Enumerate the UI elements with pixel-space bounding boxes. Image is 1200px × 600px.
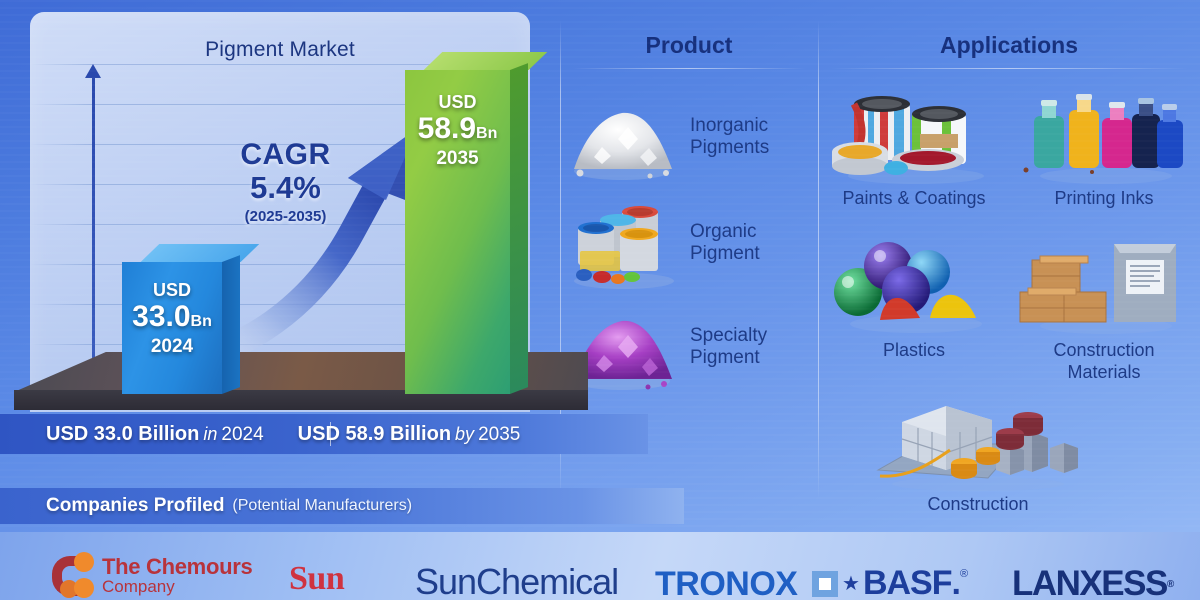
product-label-inorganic: Inorganic Pigments: [690, 115, 769, 160]
basf-star-icon: ★: [842, 571, 860, 596]
application-paints-coatings[interactable]: Paints & Coatings: [824, 78, 1004, 210]
basf-wordmark: BASF: [863, 564, 952, 600]
companies-title: Companies Profiled: [46, 495, 224, 517]
applications-title: Applications: [818, 32, 1200, 59]
application-label-cm-line1: Construction: [1014, 340, 1194, 362]
y-axis: [92, 74, 95, 392]
product-label-organic-line2: Pigment: [690, 243, 760, 265]
bar-2024: USD 33.0Bn 2024: [122, 262, 222, 394]
infographic-canvas: Pigment Market CAGR: [0, 0, 1200, 600]
bar-2024-label: USD 33.0Bn 2024: [122, 280, 222, 358]
application-plastics[interactable]: Plastics: [824, 230, 1004, 362]
basf-logo[interactable]: ★ BASF . ®: [812, 564, 968, 600]
bar-2024-top-face: [141, 244, 260, 262]
stat-2035-year: 2035: [478, 424, 520, 446]
bar-2024-value: 33.0Bn: [122, 301, 222, 333]
paint-buckets-icon: [824, 78, 1004, 186]
chart-panel: Pigment Market CAGR: [0, 0, 560, 468]
application-construction-materials[interactable]: Construction Materials: [1014, 230, 1194, 383]
paint-cans-icon: [560, 193, 690, 293]
cagr-value: 5.4%: [213, 170, 358, 206]
lanxess-tm-icon: ®: [1167, 579, 1173, 590]
product-label-specialty-line2: Pigment: [690, 347, 767, 369]
bar-2035-top-face: [424, 52, 548, 70]
chemours-mark-icon: [48, 552, 94, 598]
plastic-pellets-icon: [824, 230, 1004, 338]
companies-subtitle: (Potential Manufacturers): [232, 497, 412, 515]
application-label-inks: Printing Inks: [1014, 188, 1194, 210]
applications-panel: Applications: [818, 0, 1200, 532]
application-label-construction-materials: Construction Materials: [1014, 340, 1194, 383]
construction-blocks-icon: [868, 392, 1088, 492]
cagr-period: (2025-2035): [213, 208, 358, 225]
product-label-specialty: Specialty Pigment: [690, 325, 767, 370]
stat-2035-connector: by: [455, 424, 474, 445]
lanxess-logo[interactable]: LANXESS®: [1012, 564, 1173, 600]
product-label-organic: Organic Pigment: [690, 221, 760, 266]
basf-registered-icon: ®: [960, 568, 968, 580]
stat-band-divider: [330, 422, 331, 446]
stat-2024-year: 2024: [221, 424, 263, 446]
cagr-callout: CAGR 5.4% (2025-2035): [213, 140, 358, 225]
bar-2035: USD 58.9Bn 2035: [405, 70, 510, 394]
application-label-cm-line2: Materials: [1014, 362, 1194, 384]
stat-2024: USD 33.0 Billion in 2024: [46, 423, 264, 446]
stat-2035-value: USD 58.9 Billion: [298, 423, 451, 446]
product-label-specialty-line1: Specialty: [690, 325, 767, 347]
companies-band: Companies Profiled (Potential Manufactur…: [0, 488, 684, 524]
bar-2035-label: USD 58.9Bn 2035: [405, 92, 510, 170]
basf-period: .: [952, 564, 960, 600]
stat-2024-connector: in: [203, 424, 217, 445]
product-item-inorganic[interactable]: Inorganic Pigments: [560, 82, 818, 192]
bar-2035-value: 58.9Bn: [405, 113, 510, 145]
application-construction[interactable]: Construction: [858, 392, 1098, 516]
chemours-logo[interactable]: The Chemours Company: [48, 552, 252, 598]
bar-2035-side-face: [510, 63, 528, 394]
application-label-plastics: Plastics: [824, 340, 1004, 362]
bar-2035-currency: USD: [405, 92, 510, 113]
bar-2024-side-face: [222, 255, 240, 394]
application-printing-inks[interactable]: Printing Inks: [1014, 78, 1194, 210]
logo-strip: The Chemours Company Sun SunChemical TRO…: [0, 532, 1200, 600]
application-label-construction: Construction: [858, 494, 1098, 516]
sun-logo[interactable]: Sun: [289, 560, 344, 598]
bar-2035-unit: Bn: [476, 125, 497, 142]
bar-2024-number: 33.0: [132, 300, 190, 333]
bar-2024-unit: Bn: [191, 313, 212, 330]
chemours-logo-line1: The Chemours: [102, 556, 252, 578]
sunchemical-logo[interactable]: SunChemical: [415, 561, 618, 600]
cagr-label: CAGR: [213, 140, 358, 170]
bar-2024-year: 2024: [122, 336, 222, 358]
stat-2024-value: USD 33.0 Billion: [46, 423, 199, 446]
bar-2035-number: 58.9: [418, 112, 476, 145]
stat-band: USD 33.0 Billion in 2024 USD 58.9 Billio…: [0, 414, 648, 454]
bar-2024-currency: USD: [122, 280, 222, 301]
applications-title-rule: [830, 68, 1188, 69]
cement-bricks-icon: [1014, 230, 1194, 338]
bar-2035-year: 2035: [405, 148, 510, 170]
product-label-inorganic-line1: Inorganic: [690, 115, 769, 137]
white-powder-pile-icon: [560, 87, 690, 187]
product-title: Product: [560, 32, 818, 59]
product-title-rule: [572, 68, 806, 69]
lanxess-wordmark: LANXESS: [1012, 564, 1167, 600]
product-item-organic[interactable]: Organic Pigment: [560, 188, 818, 298]
application-label-paints: Paints & Coatings: [824, 188, 1004, 210]
ink-bottles-icon: [1014, 78, 1194, 186]
chemours-logo-line2: Company: [102, 578, 252, 595]
stat-2035: USD 58.9 Billion by 2035: [298, 423, 521, 446]
product-label-inorganic-line2: Pigments: [690, 137, 769, 159]
product-item-specialty[interactable]: Specialty Pigment: [560, 292, 818, 402]
tronox-logo[interactable]: TRONOX: [655, 565, 797, 600]
basf-square-icon: [812, 571, 838, 597]
product-label-organic-line1: Organic: [690, 221, 760, 243]
